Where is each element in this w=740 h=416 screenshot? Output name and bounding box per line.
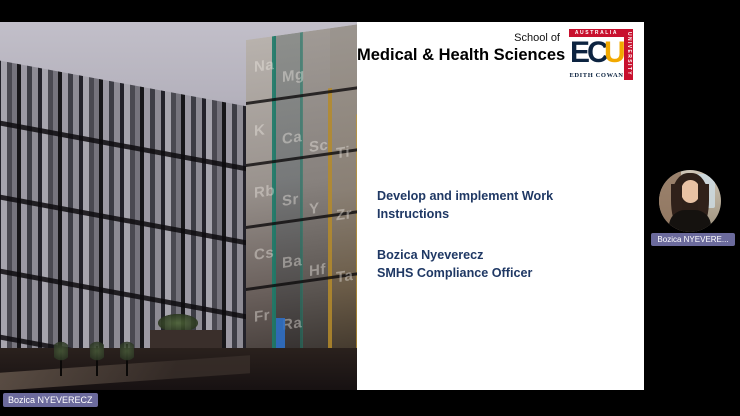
element-symbol: Ba (282, 252, 302, 272)
presenter-role: SMHS Compliance Officer (377, 264, 627, 282)
building-photo: NaMgKCaScTiRbSrYZrCsBaHfTaFrRa (0, 22, 357, 390)
school-name-title: Medical & Health Sciences (357, 46, 560, 65)
spacer (377, 224, 627, 246)
active-speaker-badge: Bozica NYEVERECZ (3, 393, 98, 407)
element-symbol: Rb (254, 182, 275, 202)
element-symbol: Ti (336, 143, 350, 162)
logo-university-text: UNIVERSITY (624, 29, 633, 80)
shared-slide[interactable]: NaMgKCaScTiRbSrYZrCsBaHfTaFrRa School of… (0, 22, 644, 390)
school-of-label: School of (357, 32, 560, 44)
tree (60, 342, 62, 376)
element-symbol: K (254, 121, 265, 140)
slide-title-line-1: Develop and implement Work (377, 187, 627, 205)
element-symbol: Y (309, 200, 320, 218)
logo-edith-cowan-text: EDITH COWAN (569, 70, 624, 80)
slide-title-line-2: Instructions (377, 205, 627, 223)
logo-letters: E C U (569, 37, 624, 71)
element-symbol: Cs (254, 244, 274, 264)
element-symbol: Sc (309, 136, 328, 156)
presenter-name: Bozica Nyeverecz (377, 246, 627, 264)
element-symbol: Fr (254, 307, 270, 326)
element-symbol: Na (254, 56, 274, 76)
element-symbol: Mg (282, 66, 305, 86)
participant-video-tile[interactable]: Bozica NYEVERE... (651, 170, 735, 232)
element-symbol: Ra (282, 314, 302, 334)
periodic-table-wing: NaMgKCaScTiRbSrYZrCsBaHfTaFrRa (246, 23, 357, 390)
slide-content-panel: School of Medical & Health Sciences AUST… (357, 22, 644, 390)
tree (96, 346, 98, 376)
element-symbol: Sr (282, 191, 299, 210)
wing-column (246, 36, 274, 390)
teal-stripe (300, 32, 303, 390)
tree (126, 344, 128, 376)
element-symbol: Ca (282, 128, 302, 148)
logo-letter-u: U (604, 37, 626, 71)
element-symbol: Hf (309, 261, 326, 280)
slide-body: Develop and implement Work Instructions … (377, 187, 627, 282)
element-symbol: Zr (336, 205, 352, 224)
gold-stripe (328, 88, 332, 389)
avatar (659, 170, 721, 232)
meeting-screen: NaMgKCaScTiRbSrYZrCsBaHfTaFrRa School of… (0, 0, 740, 416)
participant-name-label: Bozica NYEVERE... (651, 233, 735, 246)
avatar-body (669, 210, 711, 232)
ecu-logo: AUSTRALIA E C U UNIVERSITY EDITH COWAN (569, 29, 633, 80)
element-symbol: Ta (336, 267, 353, 286)
